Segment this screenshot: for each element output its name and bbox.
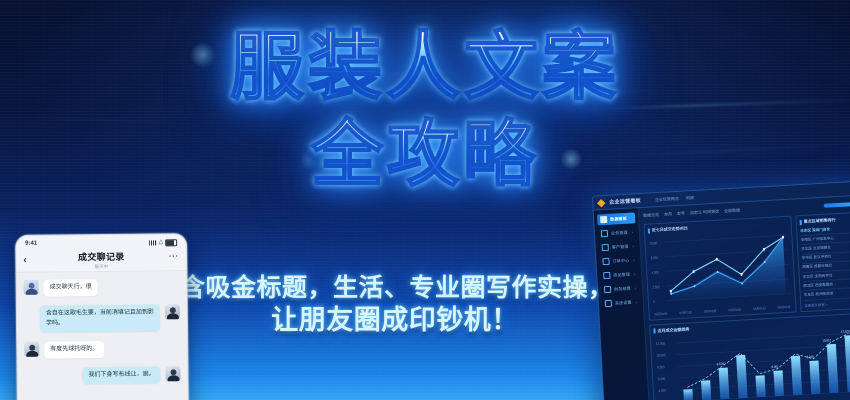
list-item: 有度先球托呀的。 xyxy=(24,340,180,359)
sidebar-item-orders[interactable]: 订单中心 › xyxy=(599,254,638,267)
list-item[interactable]: 华东区 杭州体验店 xyxy=(804,288,850,300)
ranking-list[interactable]: 华东区 深圳门店仓 华南区 广州批发中心 华北区 北京旗舰仓 华中区 武汉中转仓… xyxy=(800,224,850,300)
sidebar-item-label: 财务结算 xyxy=(614,285,631,292)
x-tick: 05月01日 xyxy=(654,312,667,317)
svg-text:6,000: 6,000 xyxy=(658,376,666,381)
svg-text:4,000: 4,000 xyxy=(652,270,659,275)
more-dots-icon[interactable]: ⋯ xyxy=(168,254,179,260)
title-line-1: 服装人文案 xyxy=(0,30,850,104)
chevron-right-icon: › xyxy=(633,257,635,262)
line-chart-card: 近七日成交走势对比 xyxy=(643,216,796,321)
list-item: 成交聊天行，很 xyxy=(24,278,180,297)
phone-nav-bar: ‹ 成交聊记录 聊天中 ⋯ xyxy=(16,248,186,273)
title-line-2: 全攻略 xyxy=(0,118,850,190)
line-chart: 8,000 6,000 4,000 2,000 0 xyxy=(648,228,792,313)
chat-message-list[interactable]: 成交聊天行，很 含自在这歌毛生要，当前消填记且加到影学吗。 有度先球托呀的。 我… xyxy=(16,271,188,400)
svg-text:8,000: 8,000 xyxy=(650,241,657,246)
line-chart-svg: 8,000 6,000 4,000 2,000 0 xyxy=(648,228,792,313)
avatar xyxy=(165,366,180,381)
svg-text:0: 0 xyxy=(653,300,655,305)
ranking-card: 重点区域销售排行 华东区 深圳门店仓 华南区 广州批发中心 华北区 北京旗舰仓 … xyxy=(795,212,850,312)
phone-mockup: 9:41 △ ‹ 成交聊记录 聊天中 ⋯ 成交聊天行，很 含自在这歌毛生要，当前… xyxy=(15,233,189,400)
svg-text:8,919: 8,919 xyxy=(807,354,815,359)
sidebar-item-dashboard[interactable]: 数据看板 xyxy=(597,212,636,225)
dashboard-brand: 企业运营看板 xyxy=(609,197,641,206)
svg-text:8,000: 8,000 xyxy=(657,365,665,370)
sidebar-item-label: 订单中心 xyxy=(612,257,629,264)
subtitle-line-1: 含吸金标题，生活、专业圈写作实操， xyxy=(180,272,610,304)
svg-text:2,000: 2,000 xyxy=(652,285,659,290)
sidebar-item-business[interactable]: 业务管理 › xyxy=(598,226,637,239)
card-title: 近月成交金额趋势 xyxy=(657,326,689,334)
sidebar-item-customers[interactable]: 客户管理 › xyxy=(598,240,637,253)
export-button[interactable] xyxy=(824,202,850,208)
dashboard-row-bottom: 近月成交金额趋势 xyxy=(649,313,850,400)
chat-bubble: 有度先球托呀的。 xyxy=(44,341,104,359)
menu-item[interactable]: 明细 xyxy=(686,195,694,201)
status-time: 9:41 xyxy=(25,241,37,247)
chat-bubble: 含自在这歌毛生要，当前消填记且加到影学吗。 xyxy=(40,305,160,333)
dashboard-content: 数据总览 本月 本年 自定义 时间筛选 全部数据 近七日成交走势对比 xyxy=(639,196,850,400)
dashboard-top-menu[interactable]: 企业经营概览 明细 xyxy=(655,195,694,203)
list-icon xyxy=(601,230,608,237)
x-tick: 05月04日 xyxy=(728,307,741,312)
x-tick: 05月03日 xyxy=(704,309,717,314)
dashboard-body: 数据看板 业务管理 › 客户管理 › 订单中心 › xyxy=(594,196,850,400)
x-tick: 05月05日 xyxy=(753,306,766,311)
battery-icon xyxy=(165,239,177,246)
accent-bar-icon xyxy=(653,329,655,334)
x-tick: 05月02日 xyxy=(679,310,692,315)
dashboard-mockup: 企业运营看板 企业经营概览 明细 数据看板 业务管理 › 客户管理 xyxy=(592,181,850,400)
sidebar-item-label: 商品管理 xyxy=(613,271,630,278)
chevron-right-icon: › xyxy=(635,285,637,290)
menu-item[interactable]: 企业经营概览 xyxy=(655,195,679,202)
status-icons: △ xyxy=(149,239,177,246)
svg-text:8,061: 8,061 xyxy=(771,364,779,369)
card-title: 重点区域销售排行 xyxy=(804,217,836,225)
subtitle-line-2: 让朋友圈成印钞机！ xyxy=(180,304,610,339)
dashboard-row-top: 近七日成交走势对比 xyxy=(643,212,850,321)
chat-bubble: 成交聊天行，很 xyxy=(44,279,98,297)
sidebar-item-label: 业务管理 xyxy=(611,229,628,236)
chat-subtitle: 聊天中 xyxy=(95,264,109,270)
svg-text:17,620: 17,620 xyxy=(841,329,850,334)
bar-chart-card: 近月成交金额趋势 xyxy=(649,313,850,400)
signal-bars-icon xyxy=(149,240,156,245)
promo-banner: 服装人文案 全攻略 含吸金标题，生活、专业圈写作实操， 让朋友圈成印钞机！ 9:… xyxy=(0,0,850,400)
chevron-right-icon: › xyxy=(634,271,636,276)
list-item: 我们下身写布线让，谢。 xyxy=(24,366,180,385)
list-icon xyxy=(602,244,609,251)
avatar xyxy=(165,304,180,319)
svg-text:6,578: 6,578 xyxy=(717,361,725,366)
tab-custom-range[interactable]: 自定义 时间筛选 xyxy=(690,209,719,217)
list-item: 含自在这歌毛生要，当前消填记且加到影学吗。 xyxy=(24,304,180,332)
tab-year[interactable]: 本年 xyxy=(677,211,685,217)
bar-chart-svg: 12,00010,000 8,0006,000 4,0002,000 xyxy=(654,325,850,400)
list-icon xyxy=(602,258,609,265)
chevron-right-icon: › xyxy=(635,299,637,304)
svg-text:12,000: 12,000 xyxy=(656,341,665,346)
sidebar-item-label: 系统设置 xyxy=(615,299,632,306)
svg-text:6,000: 6,000 xyxy=(651,256,658,261)
page-title: 服装人文案 全攻略 xyxy=(0,30,850,190)
svg-text:10,812: 10,812 xyxy=(822,338,831,343)
tab-overview[interactable]: 数据总览 xyxy=(643,212,659,219)
sidebar-item-label: 客户管理 xyxy=(612,243,629,250)
svg-text:10,000: 10,000 xyxy=(656,353,665,358)
accent-bar-icon xyxy=(800,220,802,225)
view-more-link[interactable]: 查看更多数据 > xyxy=(804,299,850,307)
back-icon[interactable]: ‹ xyxy=(23,255,26,266)
svg-text:4,000: 4,000 xyxy=(658,388,666,393)
card-title: 近七日成交走势对比 xyxy=(652,225,688,233)
tab-month[interactable]: 本月 xyxy=(664,211,672,217)
chat-bubble: 我们下身写布线让，谢。 xyxy=(82,367,160,385)
chevron-right-icon: › xyxy=(632,243,634,248)
subtitle: 含吸金标题，生活、专业圈写作实操， 让朋友圈成印钞机！ xyxy=(180,272,610,339)
avatar xyxy=(24,280,39,295)
sidebar-item-label: 数据看板 xyxy=(610,215,627,222)
chat-title: 成交聊记录 xyxy=(78,250,125,263)
avatar xyxy=(24,342,39,357)
x-tick: 05月06日 xyxy=(778,305,791,310)
chevron-right-icon: › xyxy=(631,229,633,234)
dashboard-icon xyxy=(600,216,607,223)
diamond-logo-icon xyxy=(597,198,605,206)
bar-chart: 12,00010,000 8,0006,000 4,0002,000 xyxy=(654,325,850,400)
wifi-icon: △ xyxy=(158,239,163,245)
accent-bar-icon xyxy=(648,228,650,233)
tab-all-data[interactable]: 全部数据 xyxy=(724,207,740,214)
